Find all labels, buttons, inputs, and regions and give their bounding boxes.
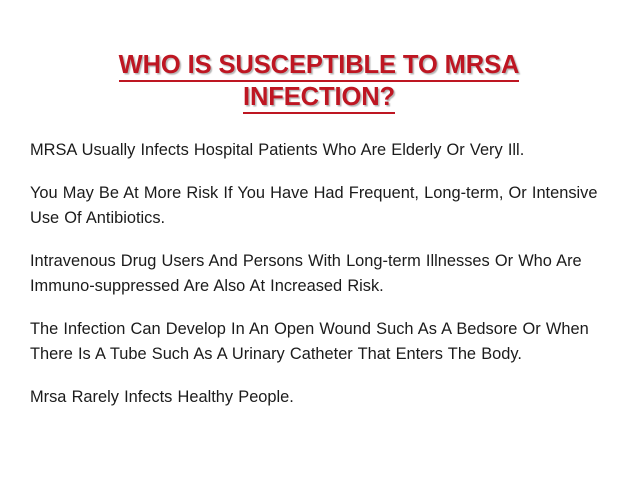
body-paragraph-3: Intravenous Drug Users And Persons With … [30,249,608,300]
title-line-1: WHO IS SUSCEPTIBLE TO MRSA [0,50,638,82]
title-line-2: INFECTION? [0,82,638,114]
slide-title: WHO IS SUSCEPTIBLE TO MRSA INFECTION? [0,50,638,114]
body-paragraph-1: MRSA Usually Infects Hospital Patients W… [30,138,608,164]
title-line-2-text: INFECTION? [243,84,395,114]
body-paragraph-5: Mrsa Rarely Infects Healthy People. [30,385,608,411]
body-paragraph-2: You May Be At More Risk If You Have Had … [30,181,608,232]
slide-canvas: WHO IS SUSCEPTIBLE TO MRSA INFECTION? MR… [0,0,638,479]
title-line-1-text: WHO IS SUSCEPTIBLE TO MRSA [119,52,520,82]
body-paragraph-4: The Infection Can Develop In An Open Wou… [30,317,608,368]
slide-body: MRSA Usually Infects Hospital Patients W… [30,138,608,410]
